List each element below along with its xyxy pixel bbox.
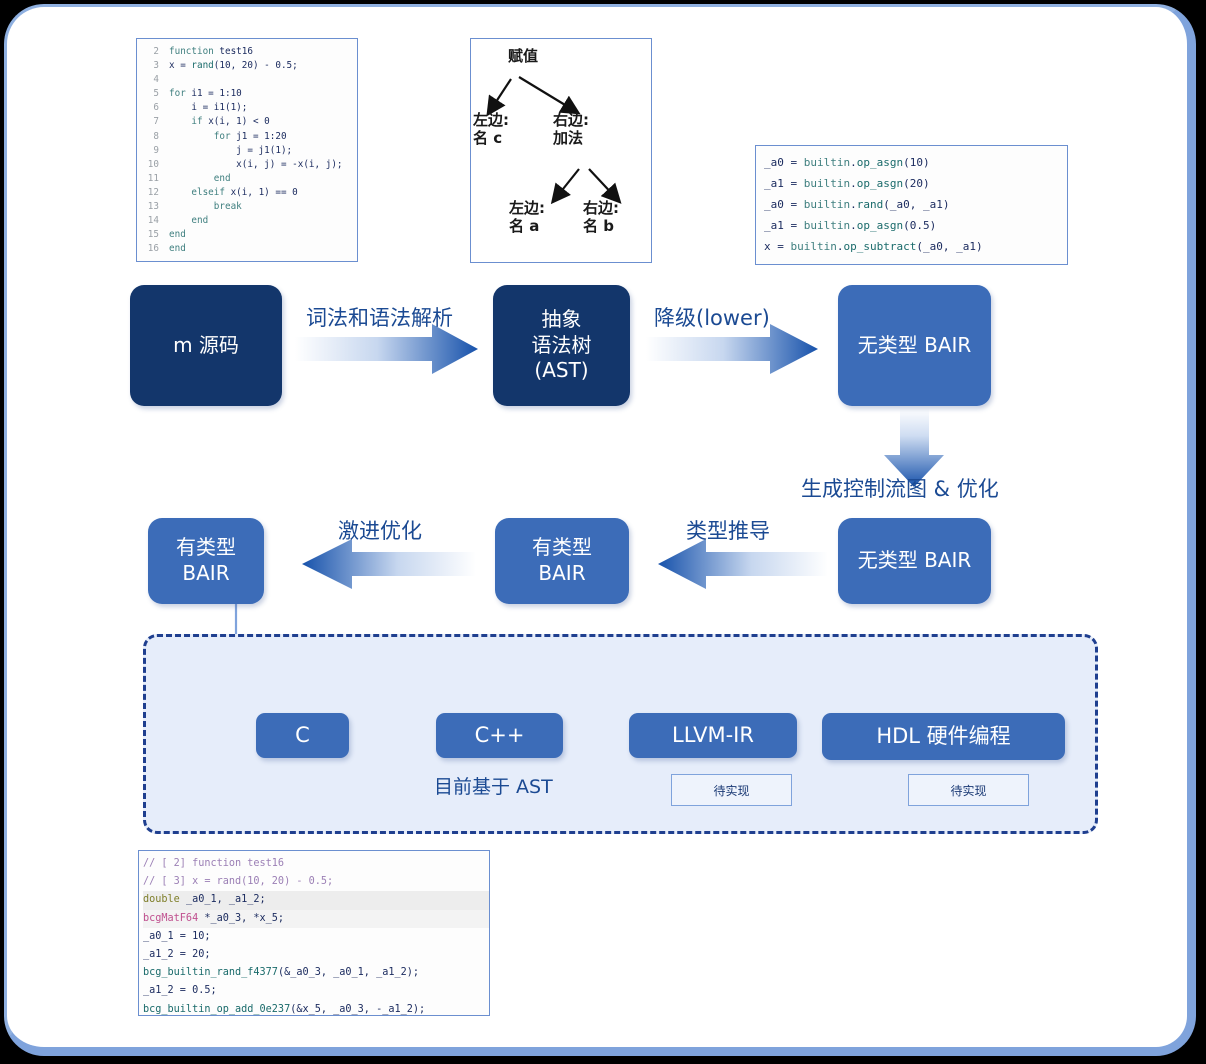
source-code-lines: 2function test163x = rand(10, 20) - 0.5;… <box>139 45 353 256</box>
ast-node-root: 赋值 <box>493 47 553 65</box>
c-output-line: double _a0_1, _a1_2; <box>143 891 489 909</box>
source-code-line: 11 end <box>139 172 353 186</box>
source-code-panel: 2function test163x = rand(10, 20) - 0.5;… <box>136 38 358 262</box>
source-code-line: 14 end <box>139 214 353 228</box>
stage-typed-bair-1[interactable]: 有类型 BAIR <box>148 518 264 604</box>
transition-parse-label: 词法和语法解析 <box>306 302 453 332</box>
ast-node-right2: 右边: 名 b <box>583 199 649 235</box>
transition-cfg-label: 生成控制流图 & 优化 <box>801 473 999 503</box>
transition-type-infer-label: 类型推导 <box>686 515 770 545</box>
c-output-line: bcg_builtin_op_add_0e237(&x_5, _a0_3, -_… <box>143 1001 489 1016</box>
bair-code-line: _a1 = builtin.op_asgn(20) <box>764 173 1067 194</box>
c-output-line: // [ 2] function test16 <box>143 855 489 873</box>
ast-node-left1: 左边: 名 c <box>465 111 543 147</box>
stage-source[interactable]: m 源码 <box>130 285 282 406</box>
diagram-stage: 2function test163x = rand(10, 20) - 0.5;… <box>0 0 1206 1064</box>
c-output-line: bcg_builtin_rand_f4377(&_a0_3, _a0_1, _a… <box>143 964 489 982</box>
backend-note-llvmir: 待实现 <box>671 774 792 806</box>
c-output-line: // [ 3] x = rand(10, 20) - 0.5; <box>143 873 489 891</box>
bair-code-line: _a0 = builtin.op_asgn(10) <box>764 152 1067 173</box>
backend-target-cpp[interactable]: C++ <box>436 713 563 758</box>
backend-target-c[interactable]: C <box>256 713 349 758</box>
bair-code-lines: _a0 = builtin.op_asgn(10)_a1 = builtin.o… <box>764 152 1067 257</box>
source-code-line: 15end <box>139 228 353 242</box>
backend-note-hdl: 待实现 <box>908 774 1029 806</box>
transition-lower-label: 降级(lower) <box>654 302 770 332</box>
bair-code-line: _a1 = builtin.op_asgn(0.5) <box>764 215 1067 236</box>
source-code-line: 7 if x(i, 1) < 0 <box>139 115 353 129</box>
source-code-line: 9 j = j1(1); <box>139 144 353 158</box>
c-output-line: _a0_1 = 10; <box>143 928 489 946</box>
backend-target-llvmir[interactable]: LLVM-IR <box>629 713 797 758</box>
stage-untyped-bair-1[interactable]: 无类型 BAIR <box>838 285 991 406</box>
backend-target-hdl[interactable]: HDL 硬件编程 <box>822 713 1065 760</box>
source-code-line: 12 elseif x(i, 1) == 0 <box>139 186 353 200</box>
source-code-line: 2function test16 <box>139 45 353 59</box>
source-code-line: 10 x(i, j) = -x(i, j); <box>139 158 353 172</box>
ast-panel: 赋值 左边: 名 c 右边: 加法 左边: 名 a 右边: 名 b <box>470 38 652 263</box>
bair-code-line: x = builtin.op_subtract(_a0, _a1) <box>764 236 1067 257</box>
c-output-line: _a1_2 = 20; <box>143 946 489 964</box>
stage-ast[interactable]: 抽象 语法树 (AST) <box>493 285 630 406</box>
source-code-line: 5for i1 = 1:10 <box>139 87 353 101</box>
c-output-panel: // [ 2] function test16// [ 3] x = rand(… <box>138 850 490 1016</box>
source-code-line: 4 <box>139 73 353 87</box>
diagram-root: 2function test163x = rand(10, 20) - 0.5;… <box>0 0 1206 1064</box>
bair-code-panel: _a0 = builtin.op_asgn(10)_a1 = builtin.o… <box>755 145 1068 265</box>
source-code-line: 13 break <box>139 200 353 214</box>
arrow-aggressive <box>302 539 476 589</box>
ast-node-left2: 左边: 名 a <box>509 199 575 235</box>
backend-note-cpp: 目前基于 AST <box>434 772 553 799</box>
source-code-line: 8 for j1 = 1:20 <box>139 130 353 144</box>
source-code-line: 16end <box>139 242 353 256</box>
c-output-lines: // [ 2] function test16// [ 3] x = rand(… <box>143 855 489 1016</box>
c-output-line: _a1_2 = 0.5; <box>143 982 489 1000</box>
ast-node-right1: 右边: 加法 <box>553 111 623 147</box>
bair-code-line: _a0 = builtin.rand(_a0, _a1) <box>764 194 1067 215</box>
source-code-line: 6 i = i1(1); <box>139 101 353 115</box>
stage-typed-bair-2[interactable]: 有类型 BAIR <box>495 518 629 604</box>
c-output-line: bcgMatF64 *_a0_3, *x_5; <box>143 910 489 928</box>
transition-aggressive-label: 激进优化 <box>338 515 422 545</box>
source-code-line: 3x = rand(10, 20) - 0.5; <box>139 59 353 73</box>
stage-untyped-bair-2[interactable]: 无类型 BAIR <box>838 518 991 604</box>
arrow-type-infer <box>658 539 828 589</box>
